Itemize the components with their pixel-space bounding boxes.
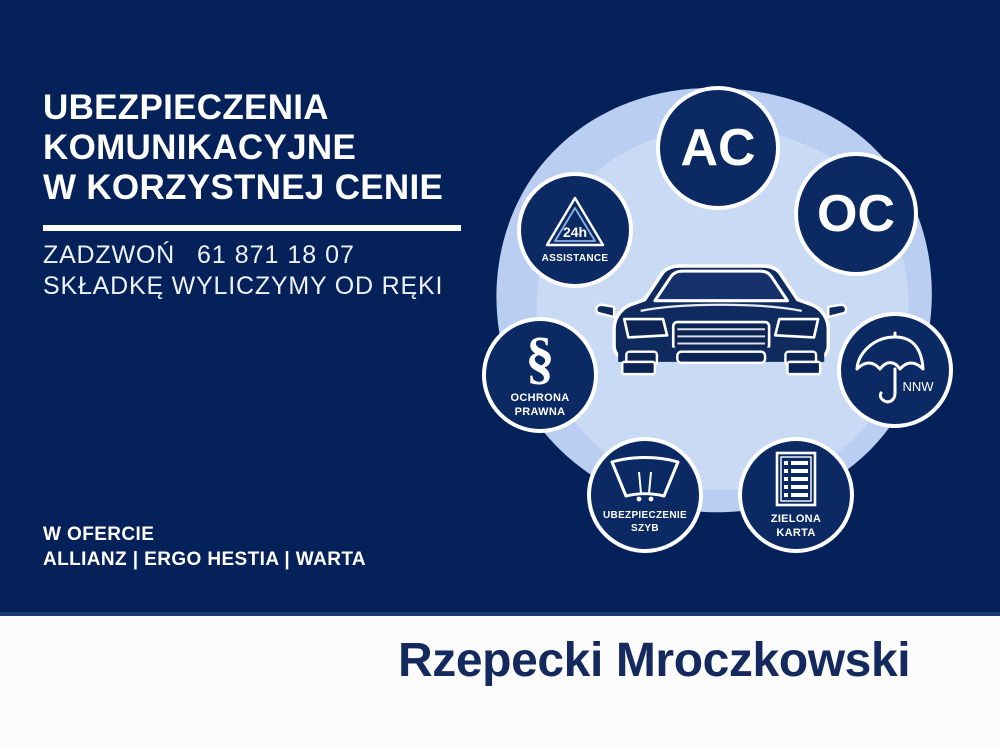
page-title: UBEZPIECZENIA KOMUNIKACYJNE W KORZYSTNEJ…: [43, 88, 513, 208]
headline-line-2: KOMUNIKACYJNE: [43, 128, 513, 168]
umbrella-icon: NNW: [852, 331, 938, 409]
headline-line-1: UBEZPIECZENIA: [43, 88, 513, 128]
badge-ac[interactable]: AC: [656, 86, 780, 210]
badge-zielona-karta-label: ZIELONA KARTA: [771, 512, 821, 540]
badge-oc[interactable]: OC: [794, 152, 918, 276]
badge-nnw[interactable]: NNW: [837, 312, 953, 428]
paragraph-section-icon: §: [526, 332, 555, 384]
warning-triangle-icon: 24h: [544, 195, 606, 249]
badge-oc-label: OC: [817, 188, 895, 240]
badge-ubezpieczenie-szyb[interactable]: UBEZPIECZENIE SZYB: [587, 437, 703, 553]
poster-root: UBEZPIECZENIA KOMUNIKACYJNE W KORZYSTNEJ…: [0, 0, 1000, 750]
company-name: Rzepecki Mroczkowski: [398, 633, 910, 688]
windshield-wiper-icon: [608, 456, 682, 504]
headline-line-3: W KORZYSTNEJ CENIE: [43, 168, 513, 208]
svg-text:24h: 24h: [563, 224, 587, 240]
badge-ubezpieczenie-szyb-label: UBEZPIECZENIE SZYB: [603, 509, 687, 535]
phone-number[interactable]: 61 871 18 07: [197, 241, 355, 269]
tagline: SKŁADKĘ WYLICZYMY OD RĘKI: [43, 271, 523, 302]
svg-text:NNW: NNW: [902, 379, 934, 394]
contact-block: ZADZWOŃ61 871 18 07 SKŁADKĘ WYLICZYMY OD…: [43, 240, 523, 302]
badge-assistance-label: ASSISTANCE: [542, 253, 609, 265]
badge-zielona-karta[interactable]: ZIELONA KARTA: [738, 437, 854, 553]
badge-assistance[interactable]: 24h ASSISTANCE: [517, 172, 633, 288]
call-label: ZADZWOŃ: [43, 241, 175, 269]
badge-ochrona-prawna-label: OCHRONA PRAWNA: [511, 391, 570, 419]
call-to-action-line: ZADZWOŃ61 871 18 07: [43, 240, 523, 271]
badge-ac-label: AC: [680, 122, 755, 174]
headline-underline: [43, 225, 461, 231]
green-card-icon: [775, 451, 817, 507]
badge-ochrona-prawna[interactable]: § OCHRONA PRAWNA: [482, 317, 598, 433]
